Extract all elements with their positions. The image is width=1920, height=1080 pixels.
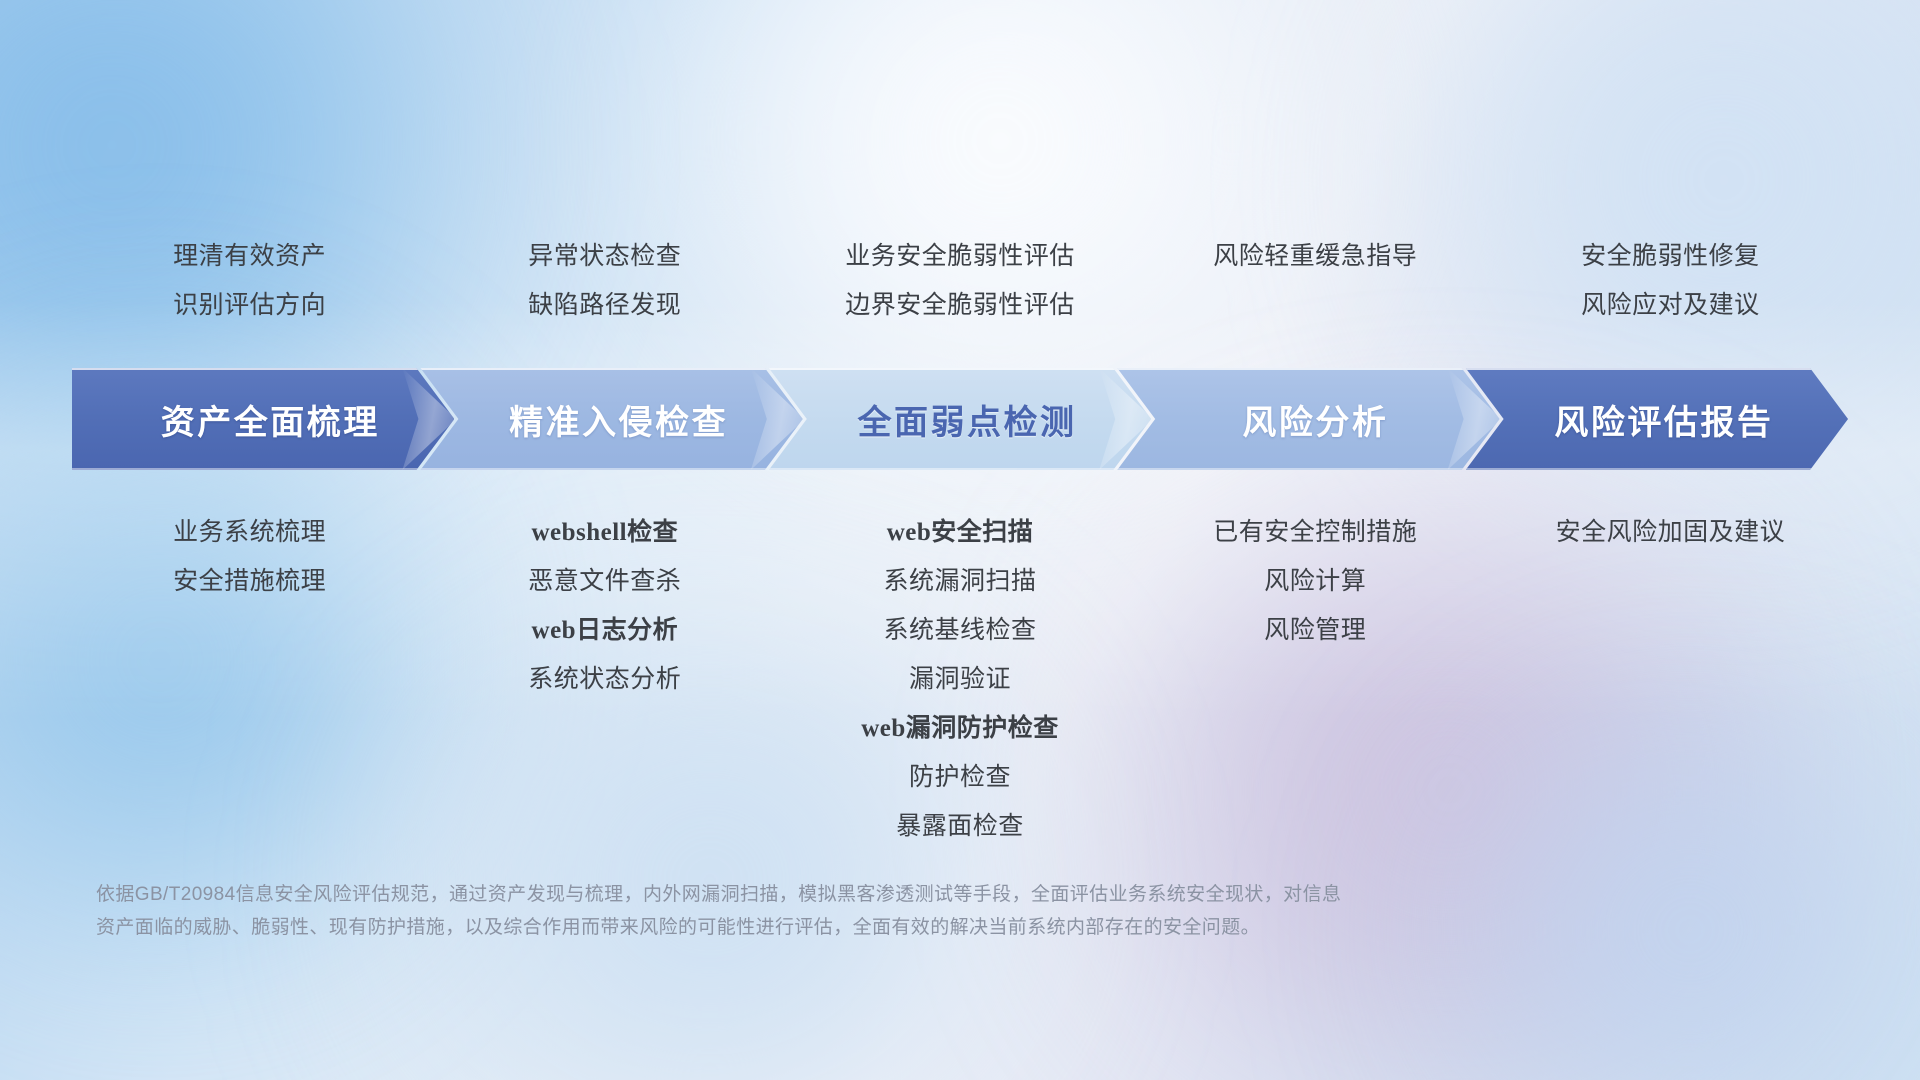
stage-outcomes-asset-inventory: 理清有效资产 识别评估方向: [72, 232, 427, 330]
stage-label: 精准入侵检查: [495, 395, 728, 444]
activity-text-en: webshell: [531, 519, 627, 546]
activity-text: 漏洞验证: [909, 655, 1011, 704]
outcome-text: 缺陷路径发现: [528, 281, 681, 330]
activity-text: webshell检查: [531, 508, 678, 557]
outcome-text: 风险应对及建议: [1581, 281, 1760, 330]
outcome-text: 理清有效资产: [173, 232, 326, 281]
stage-chevron-band: 资产全面梳理 精准入侵检查 全面弱点检测 风险分析 风险评估报告: [72, 368, 1848, 470]
stage-chevron-assessment-report[interactable]: 风险评估报告: [1466, 368, 1848, 470]
footnote-line: 依据GB/T20984信息安全风险评估规范，通过资产发现与梳理，内外网漏洞扫描，…: [96, 878, 1616, 911]
activity-text-en: web: [532, 617, 577, 644]
activity-text: 安全风险加固及建议: [1556, 508, 1786, 557]
activity-text: 防护检查: [909, 753, 1011, 802]
outcome-text: 业务安全脆弱性评估: [845, 232, 1075, 281]
activity-text-zh: 日志分析: [576, 616, 678, 644]
footnote: 依据GB/T20984信息安全风险评估规范，通过资产发现与梳理，内外网漏洞扫描，…: [96, 878, 1616, 944]
activity-text: 系统漏洞扫描: [884, 557, 1037, 606]
activity-text: 风险管理: [1264, 606, 1366, 655]
stage-activities-intrusion-check: webshell检查 恶意文件查杀 web日志分析 系统状态分析: [427, 508, 782, 704]
stage-label: 资产全面梳理: [147, 395, 380, 444]
stage-activities-weakness-detection: web安全扫描 系统漏洞扫描 系统基线检查 漏洞验证 web漏洞防护检查 防护检…: [782, 508, 1137, 851]
activity-text: 系统基线检查: [884, 606, 1037, 655]
footnote-line: 资产面临的威胁、脆弱性、现有防护措施，以及综合作用而带来风险的可能性进行评估，全…: [96, 911, 1616, 944]
stage-chevron-asset-inventory[interactable]: 资产全面梳理: [72, 368, 454, 470]
outcome-text: 识别评估方向: [173, 281, 326, 330]
activity-text-en: web: [887, 519, 932, 546]
activity-text: web漏洞防护检查: [861, 704, 1059, 753]
activity-text-en: web: [861, 715, 906, 742]
activity-text: 安全措施梳理: [173, 557, 326, 606]
stage-activities-risk-analysis: 已有安全控制措施 风险计算 风险管理: [1138, 508, 1493, 655]
activity-text-zh: 漏洞防护检查: [906, 714, 1059, 742]
stage-chevron-weakness-detection[interactable]: 全面弱点检测: [769, 368, 1151, 470]
stage-chevron-intrusion-check[interactable]: 精准入侵检查: [420, 368, 802, 470]
activity-text-zh: 安全扫描: [931, 518, 1033, 546]
activity-text-zh: 检查: [627, 518, 678, 546]
stage-label: 全面弱点检测: [844, 395, 1077, 444]
stage-outcomes-assessment-report: 安全脆弱性修复 风险应对及建议: [1493, 232, 1848, 330]
stage-activities-asset-inventory: 业务系统梳理 安全措施梳理: [72, 508, 427, 606]
process-diagram: 理清有效资产 识别评估方向 异常状态检查 缺陷路径发现 业务安全脆弱性评估 边界…: [0, 0, 1920, 1080]
activity-text: 风险计算: [1264, 557, 1366, 606]
stage-outcomes-risk-analysis: 风险轻重缓急指导: [1138, 232, 1493, 330]
outcome-text: 安全脆弱性修复: [1581, 232, 1760, 281]
outcome-text: 异常状态检查: [528, 232, 681, 281]
activity-text: 业务系统梳理: [173, 508, 326, 557]
stage-activities-assessment-report: 安全风险加固及建议: [1493, 508, 1848, 557]
activity-text: 已有安全控制措施: [1213, 508, 1417, 557]
stage-outcomes-row: 理清有效资产 识别评估方向 异常状态检查 缺陷路径发现 业务安全脆弱性评估 边界…: [72, 232, 1848, 330]
activity-text: 暴露面检查: [896, 802, 1024, 851]
outcome-text: 边界安全脆弱性评估: [845, 281, 1075, 330]
activity-text: web安全扫描: [887, 508, 1034, 557]
stage-outcomes-intrusion-check: 异常状态检查 缺陷路径发现: [427, 232, 782, 330]
stage-label: 风险评估报告: [1540, 395, 1773, 444]
stage-label: 风险分析: [1228, 395, 1388, 444]
stage-chevron-risk-analysis[interactable]: 风险分析: [1117, 368, 1499, 470]
activity-text: web日志分析: [532, 606, 679, 655]
stage-activities-row: 业务系统梳理 安全措施梳理 webshell检查 恶意文件查杀 web日志分析 …: [72, 508, 1848, 851]
activity-text: 系统状态分析: [528, 655, 681, 704]
activity-text: 恶意文件查杀: [528, 557, 681, 606]
outcome-text: 风险轻重缓急指导: [1213, 232, 1417, 281]
stage-outcomes-weakness-detection: 业务安全脆弱性评估 边界安全脆弱性评估: [782, 232, 1137, 330]
